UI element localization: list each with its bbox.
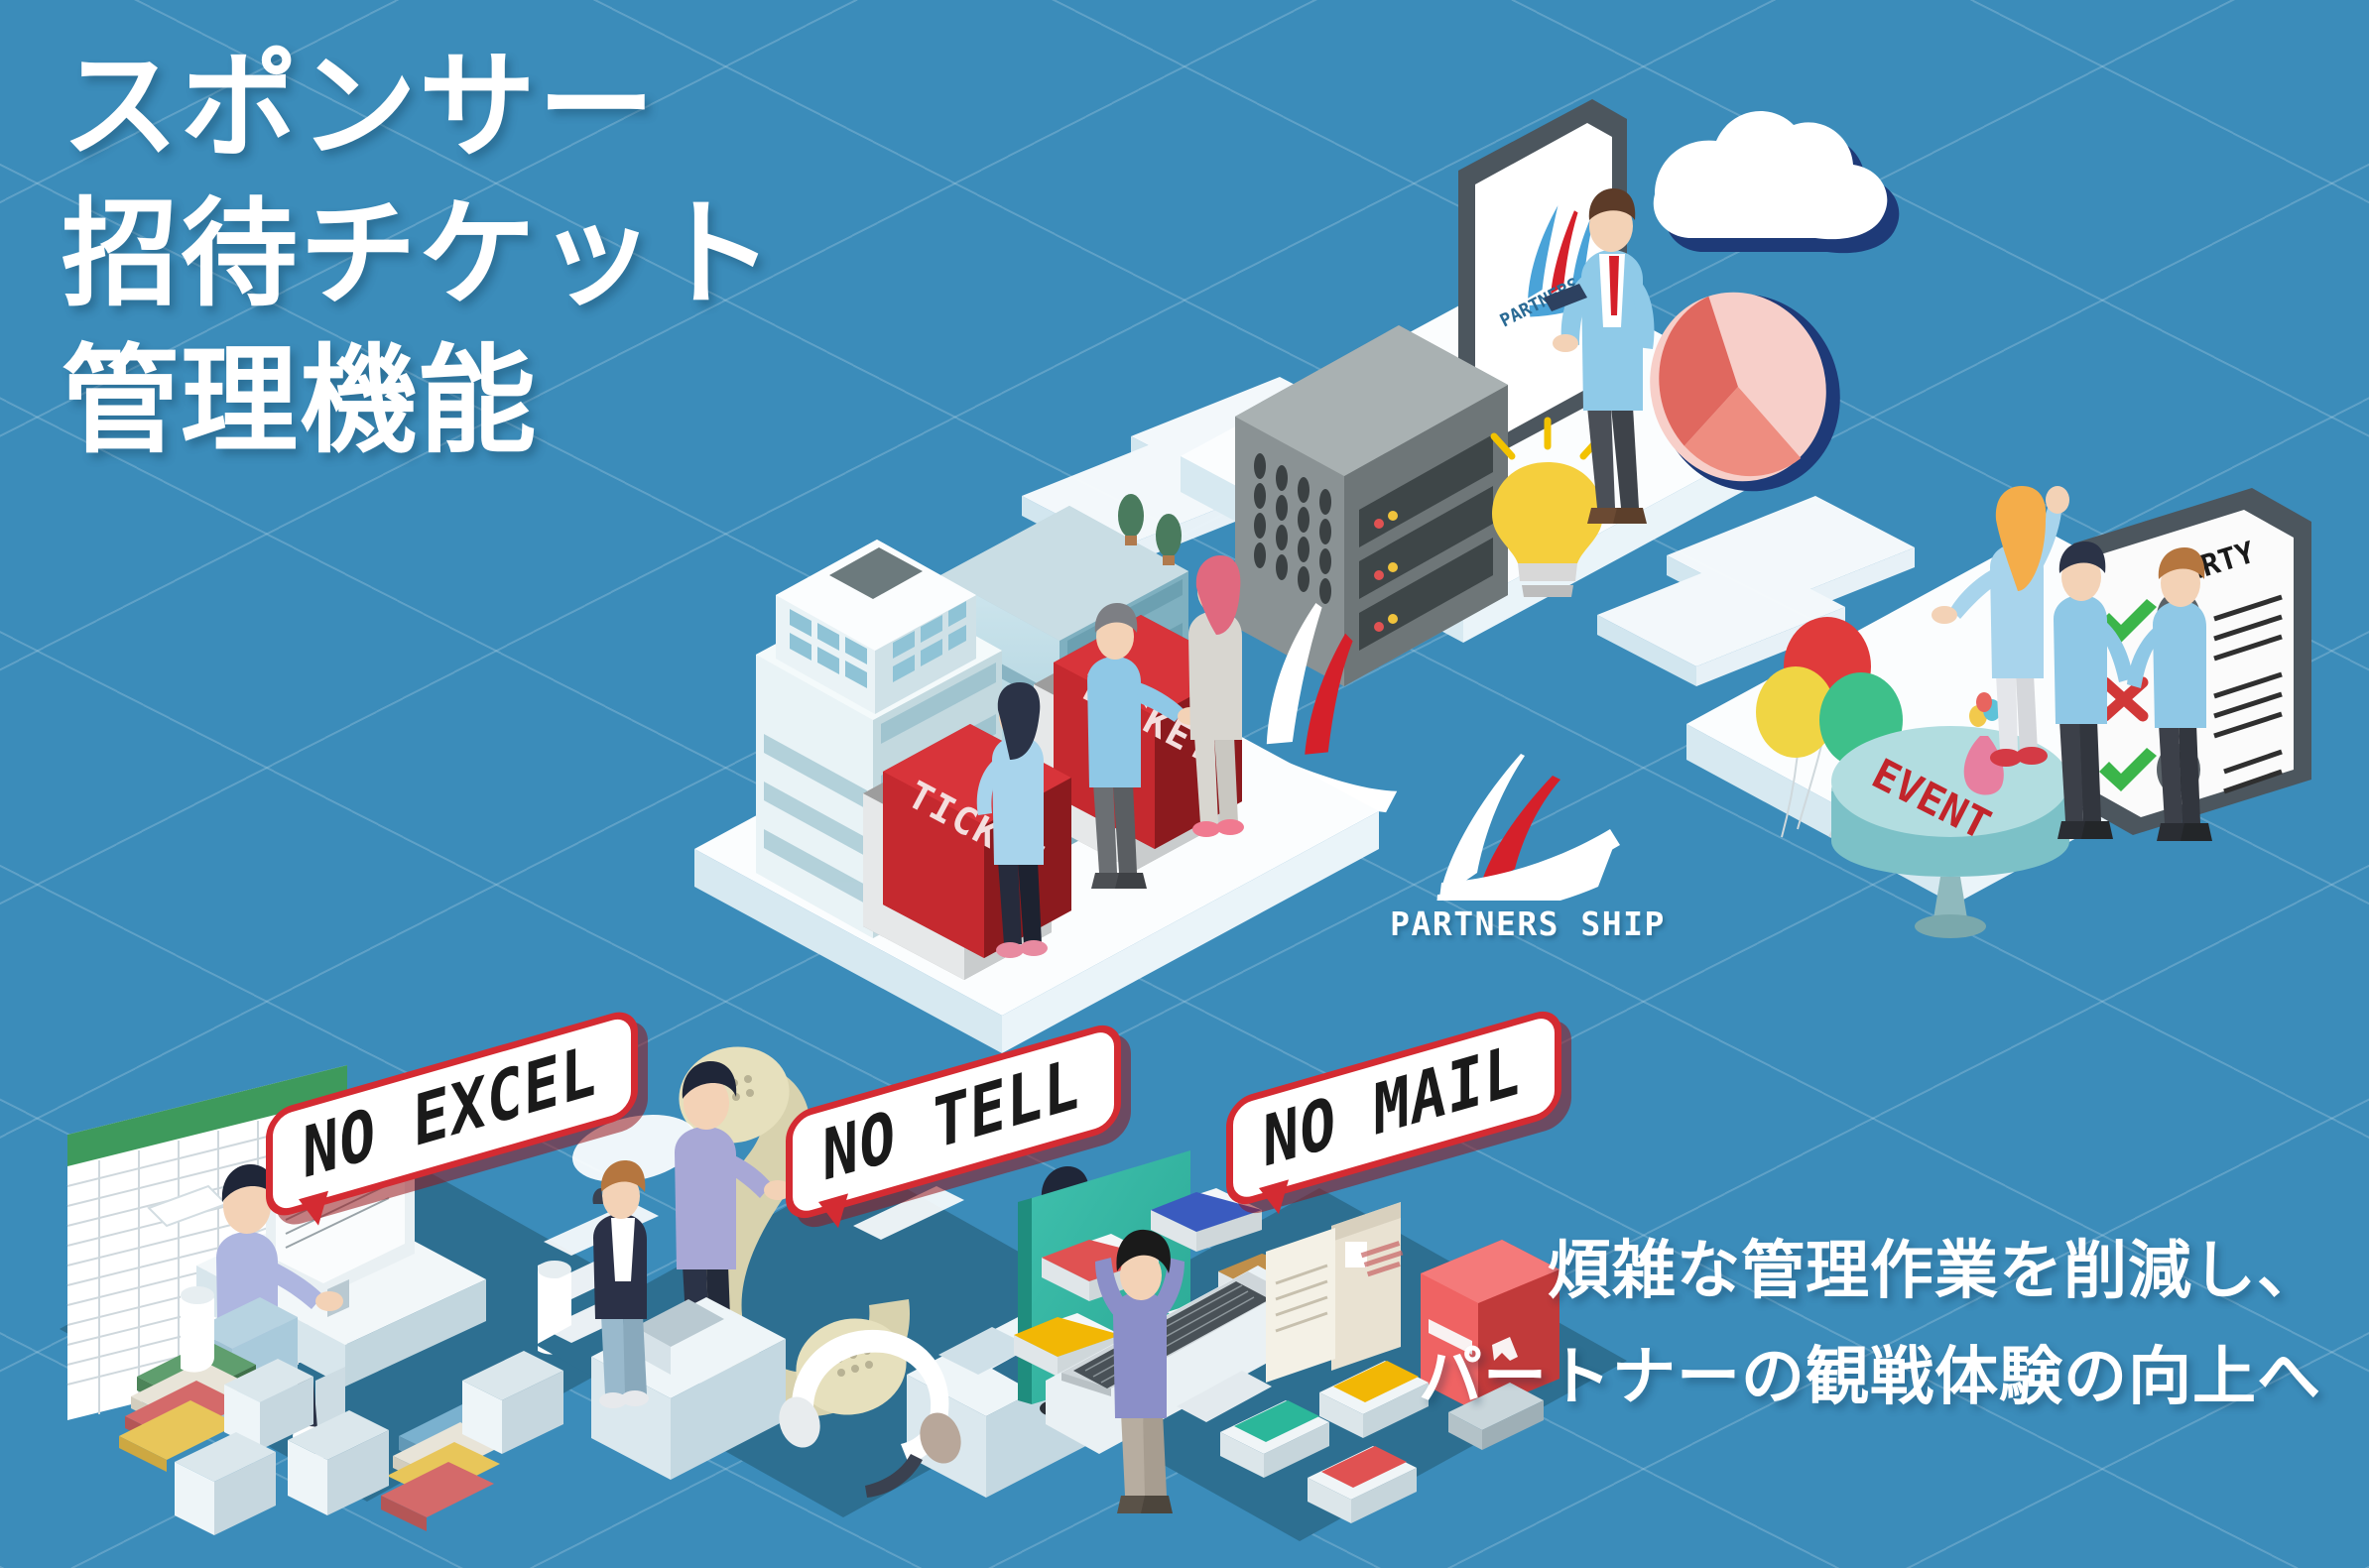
tagline-line-1: 煩雑な管理作業を削減し、	[1419, 1218, 2321, 1325]
poster-canvas: スポンサー 招待チケット 管理機能	[0, 0, 2369, 1568]
cloud-icon	[1654, 111, 1900, 253]
tagline-line-2: パートナーの観戦体験の向上へ	[1419, 1324, 2321, 1431]
sail-ship-logo	[1404, 750, 1652, 901]
page-title: スポンサー 招待チケット 管理機能	[62, 34, 954, 476]
brand-logo: PARTNERS SHIP	[1384, 750, 1672, 943]
brand-name: PARTNERS SHIP	[1384, 905, 1672, 943]
tagline: 煩雑な管理作業を削減し、 パートナーの観戦体験の向上へ	[1419, 1218, 2321, 1431]
paper-roll	[181, 1286, 214, 1373]
headline-line-3: 管理機能	[62, 328, 954, 476]
document-notice	[1331, 1202, 1406, 1371]
headline-line-2: 招待チケット	[62, 181, 954, 329]
document-sheet	[1266, 1228, 1335, 1383]
headline-line-1: スポンサー	[62, 34, 954, 181]
